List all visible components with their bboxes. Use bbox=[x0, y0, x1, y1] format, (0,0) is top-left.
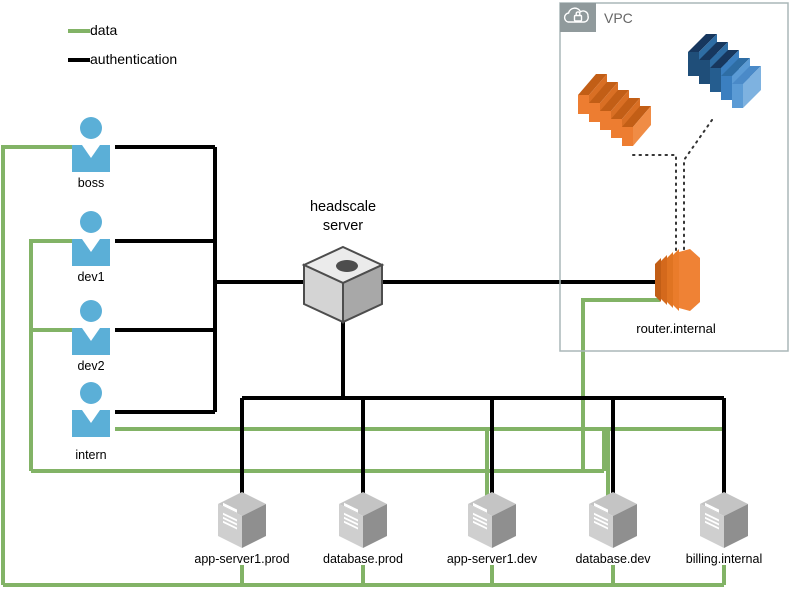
user-label-dev2: dev2 bbox=[41, 359, 141, 373]
server-label-app-server1-prod: app-server1.prod bbox=[172, 552, 312, 566]
legend-layer bbox=[0, 0, 792, 593]
legend-label-data: data bbox=[90, 22, 117, 38]
user-label-intern: intern bbox=[41, 448, 141, 462]
user-label-boss: boss bbox=[41, 176, 141, 190]
diagram-canvas: VPC router.internal bbox=[0, 0, 792, 593]
server-label-app-server1-dev: app-server1.dev bbox=[424, 552, 560, 566]
headscale-label-line2: server bbox=[293, 218, 393, 235]
server-label-database-dev: database.dev bbox=[550, 552, 676, 566]
server-label-database-prod: database.prod bbox=[298, 552, 428, 566]
user-label-dev1: dev1 bbox=[41, 270, 141, 284]
headscale-label-line1: headscale bbox=[293, 199, 393, 216]
legend-label-authentication: authentication bbox=[90, 51, 177, 67]
server-label-billing-internal: billing.internal bbox=[660, 552, 788, 566]
